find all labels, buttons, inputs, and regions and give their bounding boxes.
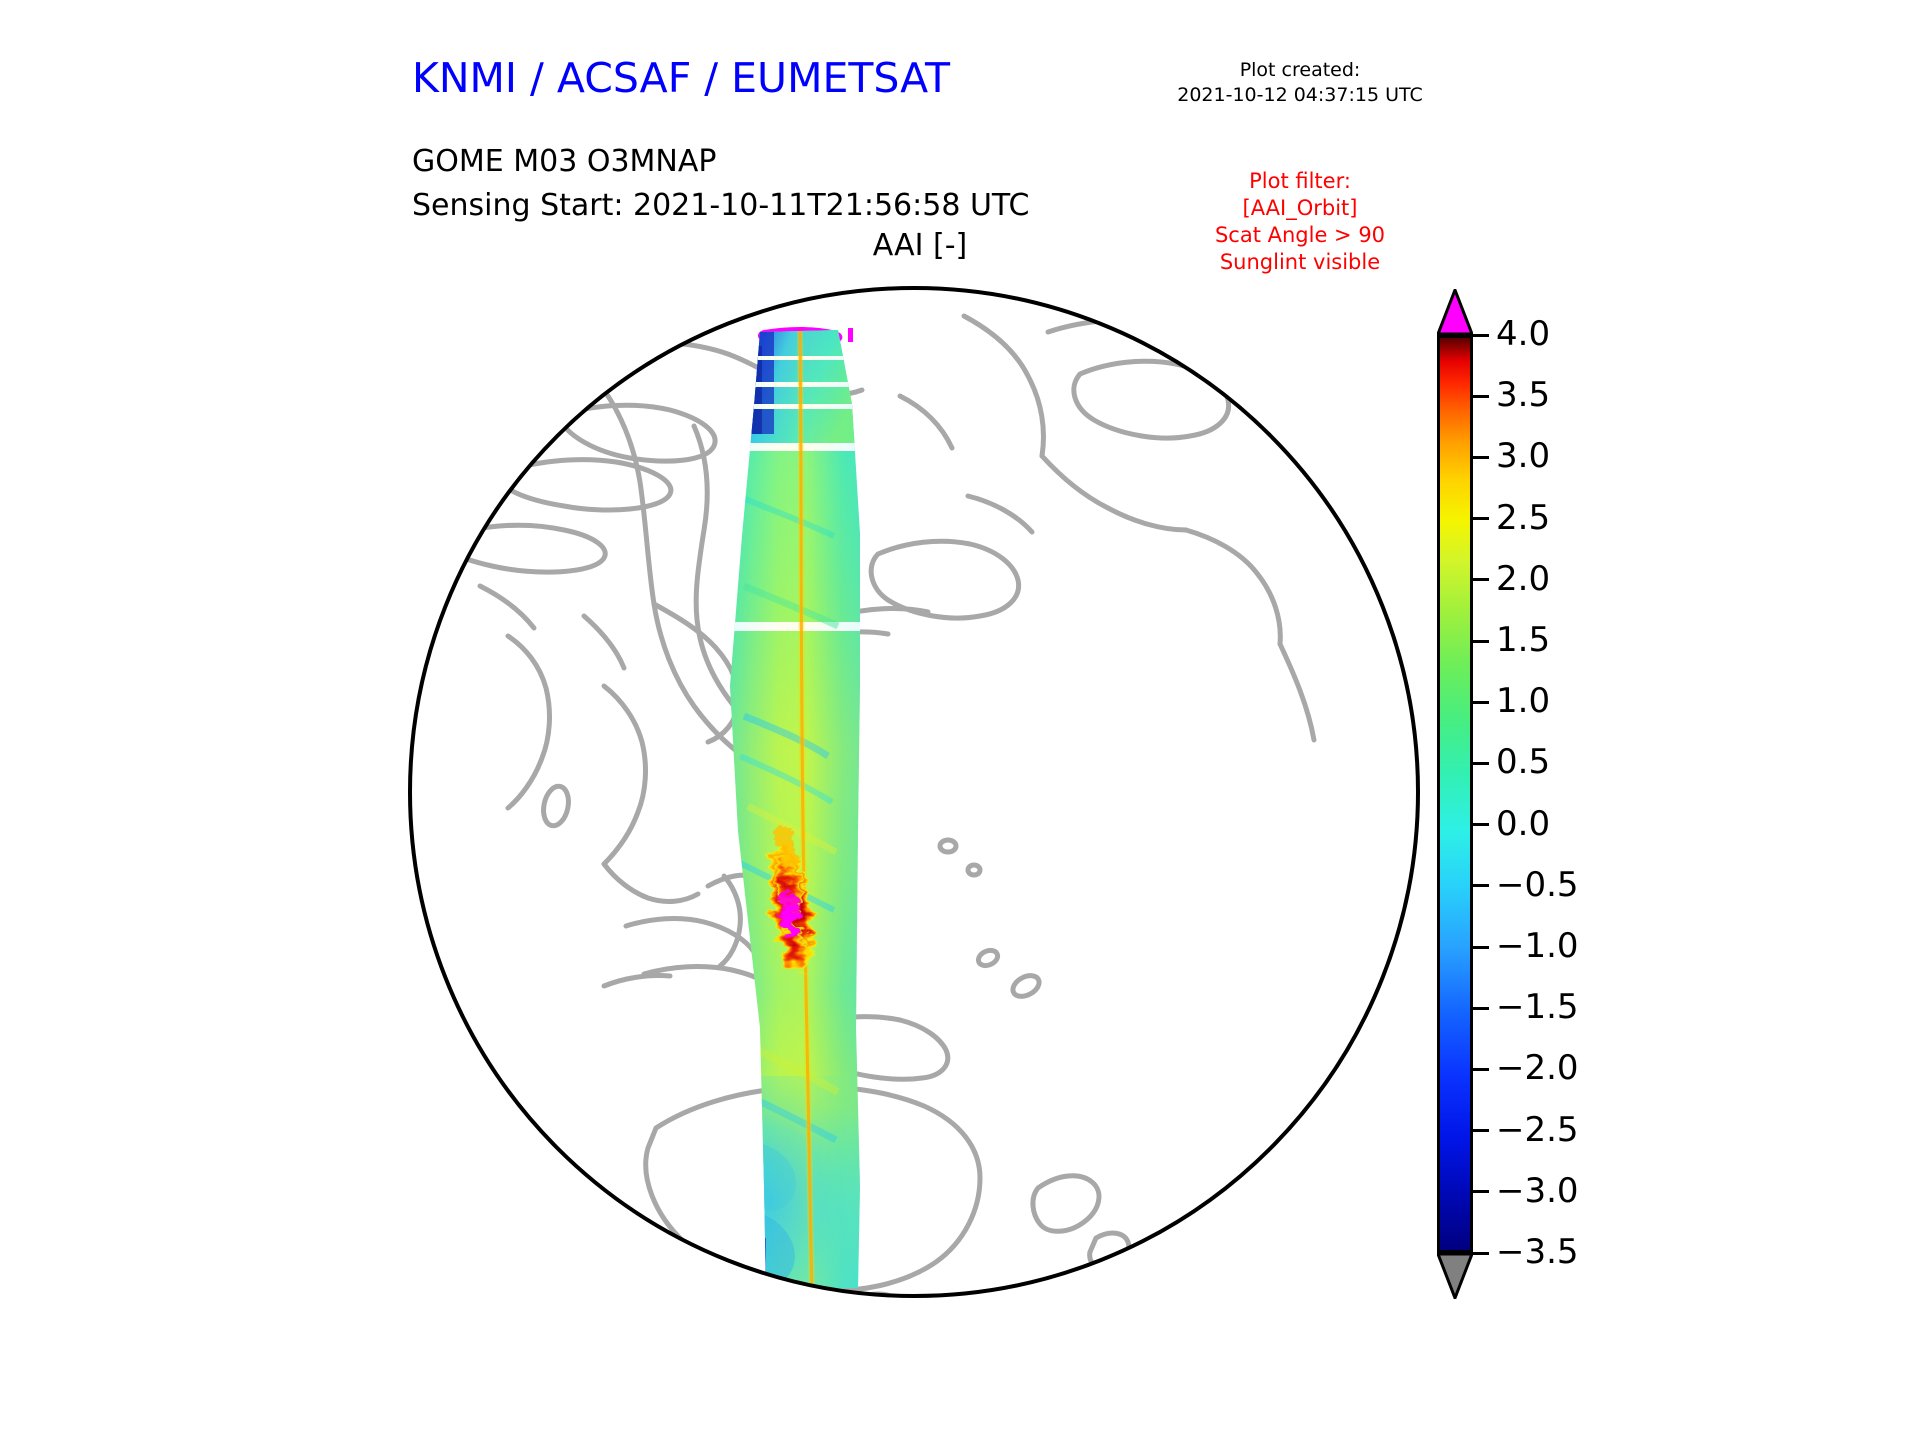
colorbar-tick-label: 2.0	[1496, 562, 1550, 596]
colorbar-tick	[1473, 1129, 1489, 1132]
colorbar-tick	[1473, 517, 1489, 520]
plot-title-block: GOME M03 O3MNAP Sensing Start: 2021-10-1…	[412, 140, 1029, 228]
colorbar-tick	[1473, 1068, 1489, 1071]
colorbar-tick-label: 3.0	[1496, 439, 1550, 473]
plot-created-block: Plot created: 2021-10-12 04:37:15 UTC	[1160, 58, 1440, 108]
colorbar-bar	[1437, 335, 1473, 1253]
plot-created-label: Plot created:	[1160, 58, 1440, 83]
filter-title: Plot filter:	[1165, 168, 1435, 195]
colorbar-tick-label: −2.5	[1496, 1113, 1579, 1147]
colorbar-tick-label: −2.0	[1496, 1051, 1579, 1085]
colorbar-under-arrow	[1437, 1253, 1473, 1299]
instrument-product-line: GOME M03 O3MNAP	[412, 140, 1029, 184]
colorbar-tick	[1473, 762, 1489, 765]
plot-filter-block: Plot filter: [AAI_Orbit] Scat Angle > 90…	[1165, 168, 1435, 276]
colorbar-tick	[1473, 334, 1489, 337]
colorbar-tick	[1473, 884, 1489, 887]
colorbar-tick-label: 3.5	[1496, 378, 1550, 412]
colorbar-tick-label: −0.5	[1496, 868, 1579, 902]
colorbar-tick	[1473, 1007, 1489, 1010]
colorbar-over-arrow	[1437, 289, 1473, 335]
colorbar-tick	[1473, 640, 1489, 643]
colorbar-tick-label: 0.0	[1496, 807, 1550, 841]
colorbar-tick	[1473, 578, 1489, 581]
organisation-header: KNMI / ACSAF / EUMETSAT	[412, 54, 950, 102]
colorbar-tick-label: −1.5	[1496, 990, 1579, 1024]
colorbar-tick	[1473, 456, 1489, 459]
colorbar-tick-label: 2.5	[1496, 501, 1550, 535]
plot-created-timestamp: 2021-10-12 04:37:15 UTC	[1160, 83, 1440, 108]
filter-sunglint: Sunglint visible	[1165, 249, 1435, 276]
colorbar-tick	[1473, 701, 1489, 704]
colorbar-tick-label: −3.0	[1496, 1174, 1579, 1208]
filter-orbit: [AAI_Orbit]	[1165, 195, 1435, 222]
colorbar-tick	[1473, 1252, 1489, 1255]
globe-map	[408, 286, 1420, 1298]
globe-svg	[408, 286, 1420, 1298]
colorbar-tick	[1473, 823, 1489, 826]
colorbar: 4.03.53.02.52.01.51.00.50.0−0.5−1.0−1.5−…	[1430, 280, 1670, 1310]
colorbar-tick-label: 4.0	[1496, 317, 1550, 351]
colorbar-tick	[1473, 946, 1489, 949]
colorbar-tick-label: −3.5	[1496, 1235, 1579, 1269]
colorbar-tick-label: 1.5	[1496, 623, 1550, 657]
variable-label: AAI [-]	[760, 228, 1080, 263]
colorbar-tick	[1473, 395, 1489, 398]
colorbar-tick	[1473, 1190, 1489, 1193]
plot-canvas: KNMI / ACSAF / EUMETSAT Plot created: 20…	[0, 0, 1920, 1440]
filter-scat-angle: Scat Angle > 90	[1165, 222, 1435, 249]
colorbar-gradient	[1440, 338, 1470, 1250]
colorbar-tick-label: −1.0	[1496, 929, 1579, 963]
sensing-start-line: Sensing Start: 2021-10-11T21:56:58 UTC	[412, 184, 1029, 228]
colorbar-tick-label: 0.5	[1496, 745, 1550, 779]
colorbar-tick-label: 1.0	[1496, 684, 1550, 718]
